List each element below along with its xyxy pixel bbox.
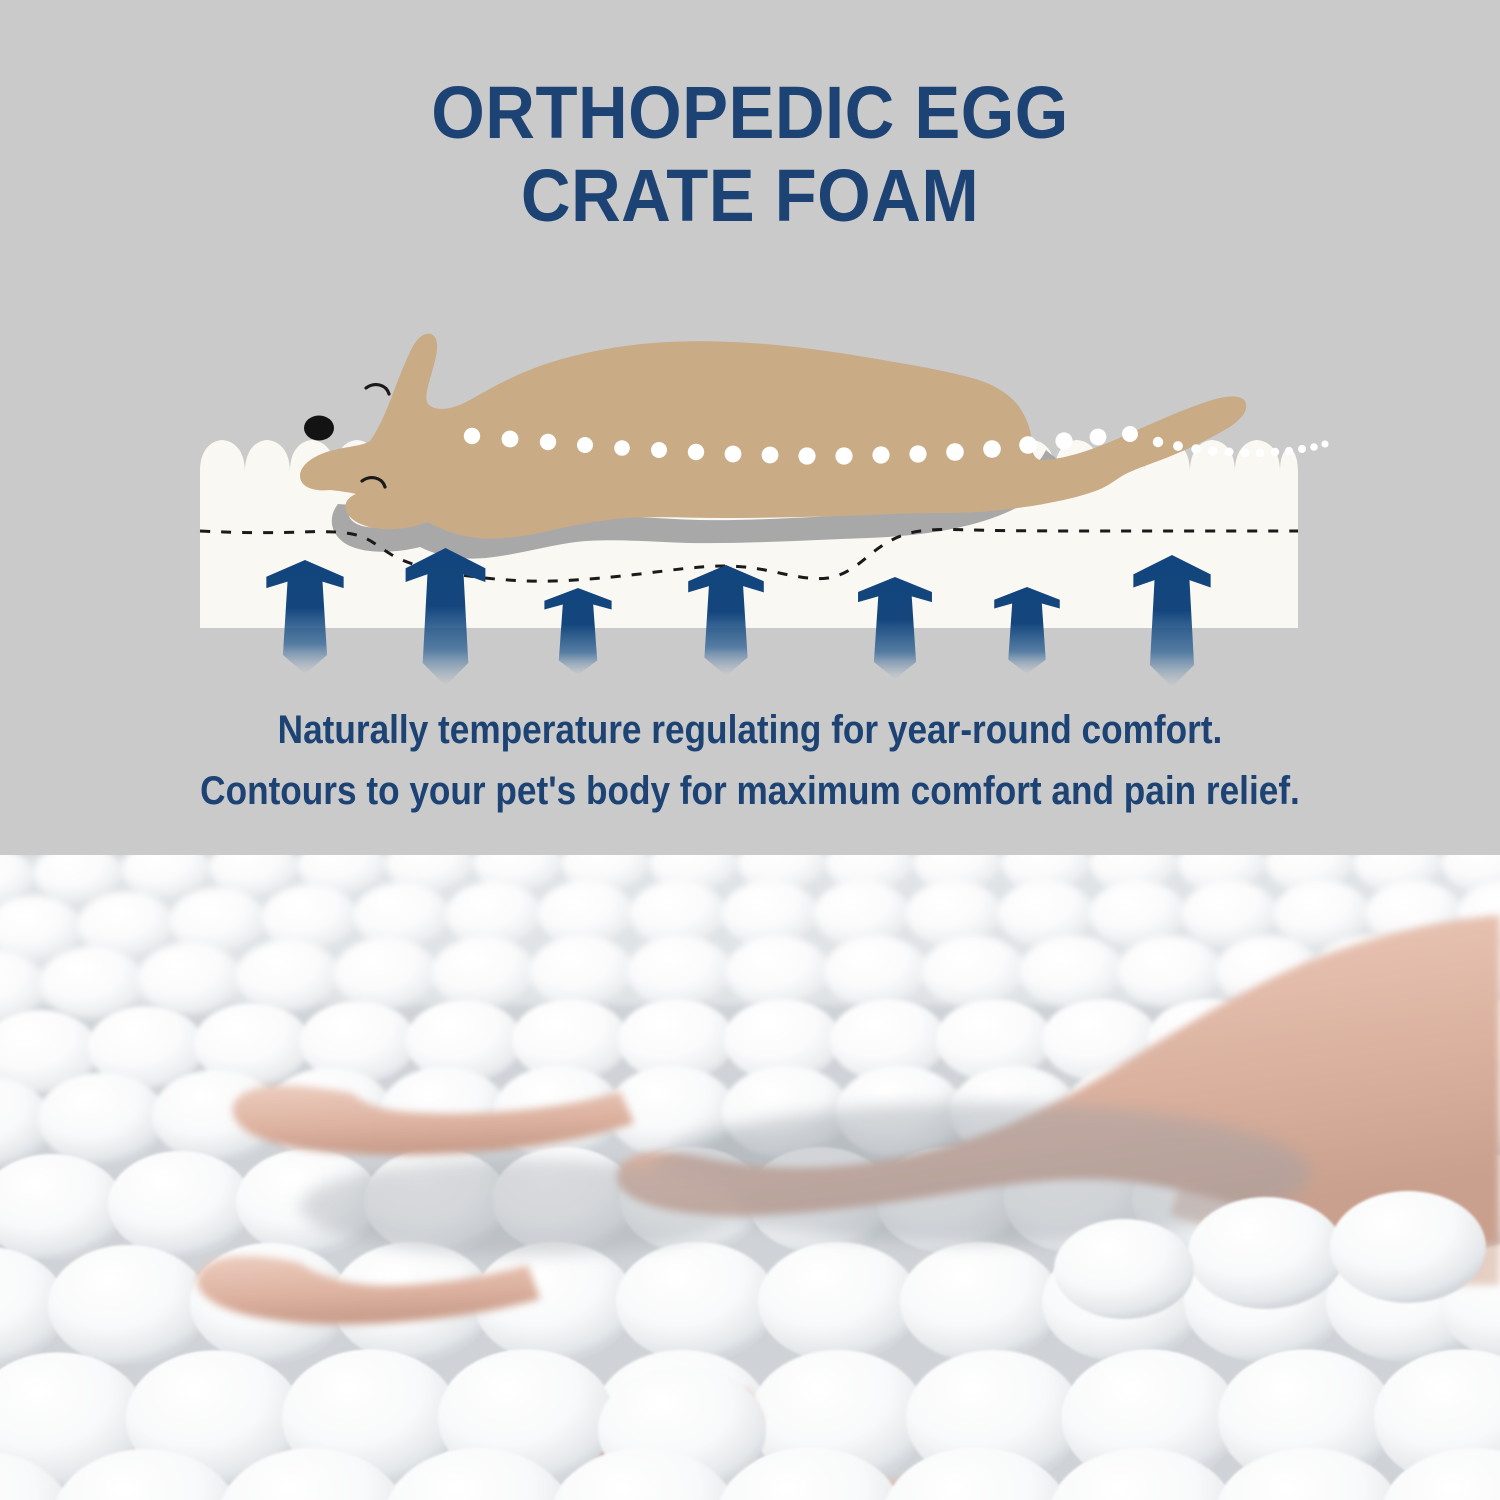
headline-line-2: CRATE FOAM bbox=[53, 155, 1448, 238]
pressure-arrow-6 bbox=[994, 587, 1060, 674]
product-feature-graphic: ORTHOPEDIC EGG CRATE FOAM bbox=[0, 0, 1500, 1500]
pressure-arrow-3 bbox=[544, 588, 611, 675]
caption-line-2: Contours to your pet's body for maximum … bbox=[90, 761, 1410, 822]
caption-line-1: Naturally temperature regulating for yea… bbox=[278, 708, 1223, 752]
headline-line-1: ORTHOPEDIC EGG bbox=[431, 71, 1068, 154]
info-panel: ORTHOPEDIC EGG CRATE FOAM bbox=[0, 0, 1500, 855]
foam-photo bbox=[0, 855, 1500, 1500]
feature-caption: Naturally temperature regulating for yea… bbox=[90, 700, 1410, 822]
foam-support-diagram bbox=[0, 300, 1500, 690]
page-title: ORTHOPEDIC EGG CRATE FOAM bbox=[53, 72, 1448, 238]
